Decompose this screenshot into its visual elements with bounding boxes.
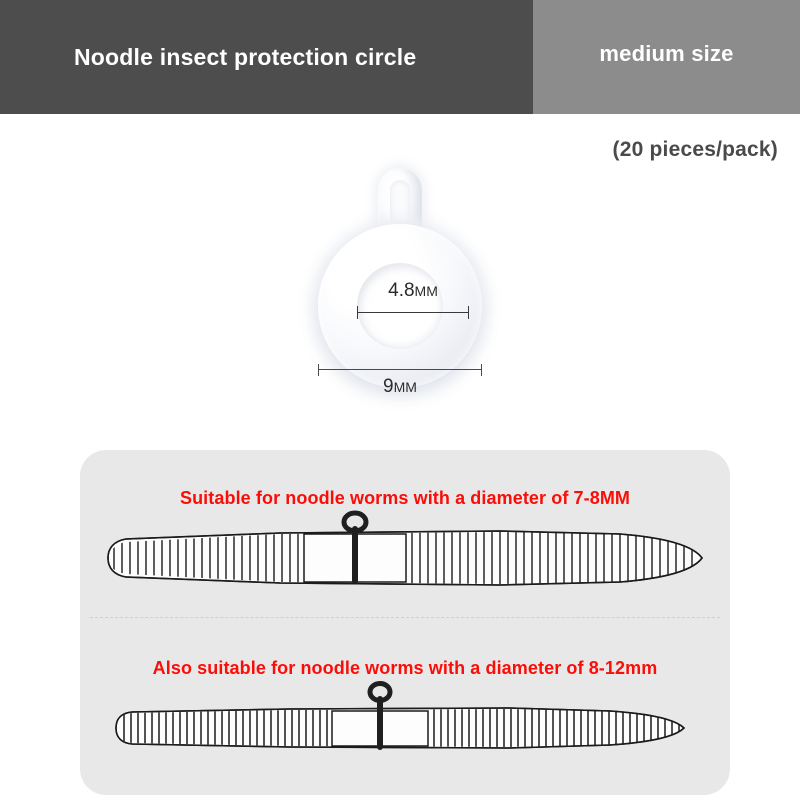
inner-diameter-label: 4.8MM [353, 280, 473, 302]
header-bar: Noodle insect protection circle medium s… [0, 0, 800, 114]
usage-divider [90, 617, 720, 618]
outer-diameter-line [318, 369, 482, 370]
inner-diameter-dimension: 4.8MM [353, 280, 473, 326]
outer-diameter-tick-left [318, 364, 319, 376]
header-size-block: medium size [533, 0, 800, 114]
inner-diameter-unit: MM [415, 283, 438, 299]
outer-diameter-dimension: 9MM [316, 364, 484, 402]
usage-caption-small-worm: Suitable for noodle worms with a diamete… [80, 488, 730, 509]
noodle-worm-illustration-large [80, 678, 730, 778]
inner-diameter-tick-right [468, 306, 469, 319]
silicone-protection-ring-illustration: 4.8MM 9MM [300, 168, 500, 400]
inner-diameter-line [357, 312, 469, 313]
pack-count-label: (20 pieces/pack) [613, 138, 778, 162]
size-badge: medium size [599, 41, 733, 73]
inner-diameter-tick-left [357, 306, 358, 319]
page-title: Noodle insect protection circle [0, 44, 416, 71]
usage-card: Suitable for noodle worms with a diamete… [80, 450, 730, 795]
outer-diameter-value: 9 [383, 376, 394, 397]
header-title-block: Noodle insect protection circle [0, 0, 533, 114]
outer-diameter-unit: MM [394, 379, 417, 395]
noodle-worm-illustration-small [80, 508, 730, 608]
outer-diameter-label: 9MM [316, 376, 484, 398]
inner-diameter-value: 4.8 [388, 280, 414, 301]
usage-caption-large-worm: Also suitable for noodle worms with a di… [80, 658, 730, 679]
ring-top-loop-hole [390, 180, 410, 226]
outer-diameter-tick-right [481, 364, 482, 376]
